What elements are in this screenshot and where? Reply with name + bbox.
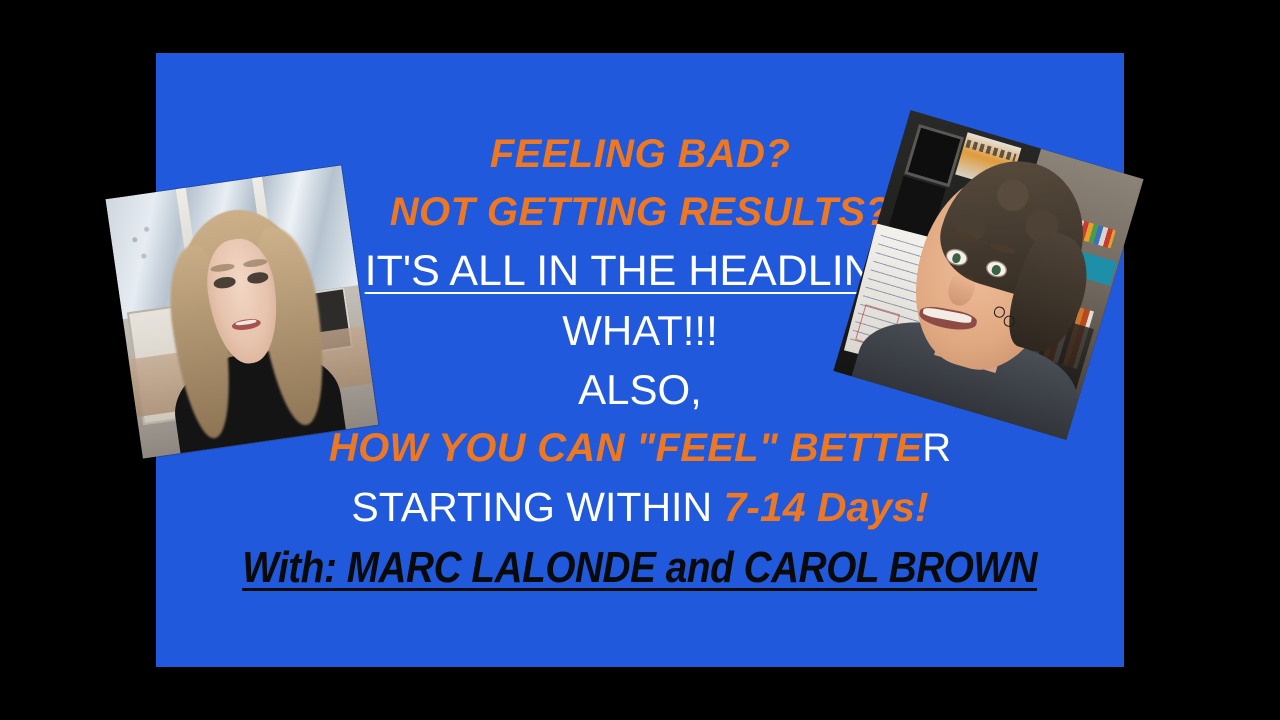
headline-line-7: STARTING WITHIN 7-14 Days! <box>156 477 1124 537</box>
headline-line-7-orange: 7-14 Days! <box>723 484 928 530</box>
headline-line-8: With: MARC LALONDE and CAROL BROWN <box>243 537 1038 599</box>
headline-line-6-white: R <box>922 426 951 470</box>
headline-line-6-orange: HOW YOU CAN "FEEL" BETTE <box>329 426 922 470</box>
video-thumbnail-stage: FEELING BAD? NOT GETTING RESULTS? IT'S A… <box>0 0 1280 720</box>
headline-line-8-wrapper: With: MARC LALONDE and CAROL BROWN <box>156 537 1124 599</box>
left-photo-scene <box>106 165 379 458</box>
tree-through-window <box>118 212 170 276</box>
headline-line-7-white: STARTING WITHIN <box>351 484 723 530</box>
carol-brown-webcam-photo <box>106 165 379 458</box>
slide-panel: FEELING BAD? NOT GETTING RESULTS? IT'S A… <box>156 53 1124 667</box>
